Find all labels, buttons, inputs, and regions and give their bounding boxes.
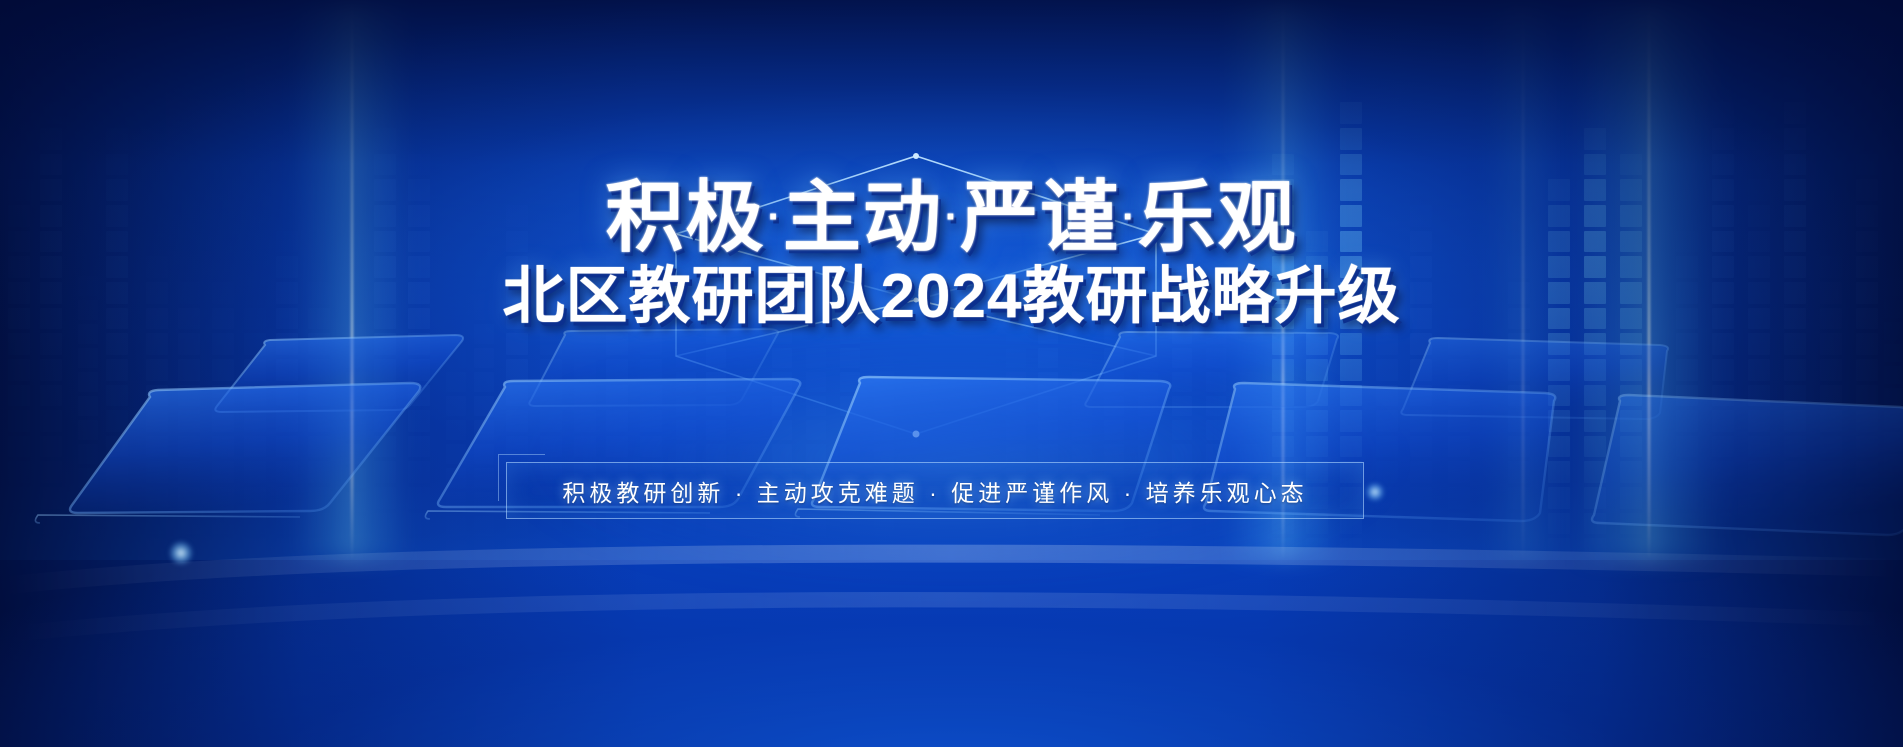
sub-title: 北区教研团队2024教研战略升级 <box>0 266 1903 328</box>
banner-stage: 积极·主动·严谨·乐观 北区教研团队2024教研战略升级 积极教研创新 · 主动… <box>0 0 1903 747</box>
title-segment: 主动 <box>783 173 943 261</box>
title-segment: 严谨 <box>960 173 1120 261</box>
title-separator-dot: · <box>943 195 960 239</box>
banner-content: 积极·主动·严谨·乐观 北区教研团队2024教研战略升级 积极教研创新 · 主动… <box>0 0 1903 747</box>
tagline-box: 积极教研创新 · 主动攻克难题 · 促进严谨作风 · 培养乐观心态 <box>506 462 1364 519</box>
title-segment: 积极 <box>605 173 765 261</box>
main-title: 积极·主动·严谨·乐观 <box>0 178 1903 262</box>
title-segment: 乐观 <box>1138 173 1298 261</box>
title-separator-dot: · <box>1120 195 1137 239</box>
title-separator-dot: · <box>765 195 782 239</box>
tagline-text: 积极教研创新 · 主动攻克难题 · 促进严谨作风 · 培养乐观心态 <box>507 463 1363 518</box>
